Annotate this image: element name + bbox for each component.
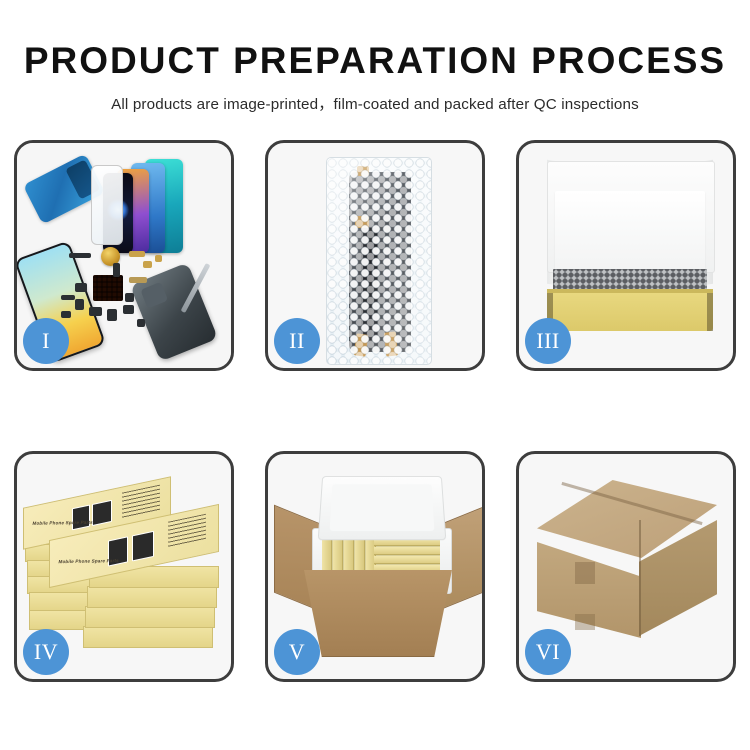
chip-grid-graphic bbox=[93, 275, 123, 301]
page-title: PRODUCT PREPARATION PROCESS bbox=[0, 0, 750, 81]
page-subtitle: All products are image-printed，film-coat… bbox=[0, 81, 750, 114]
carton-body-graphic bbox=[304, 570, 452, 657]
process-step-panel-5: V bbox=[265, 451, 485, 682]
product-preparation-infographic: PRODUCT PREPARATION PROCESS All products… bbox=[0, 0, 750, 750]
bubble-wrap-bag-graphic bbox=[326, 157, 432, 365]
step-badge-2: II bbox=[274, 318, 320, 364]
process-step-panel-3: III bbox=[516, 140, 736, 371]
step-badge-4: IV bbox=[23, 629, 69, 675]
yellow-box-front-graphic bbox=[547, 293, 713, 331]
step-badge-5: V bbox=[274, 629, 320, 675]
process-step-panel-4: Mobile Phone Spare Parts Mobile Phone Sp… bbox=[14, 451, 234, 682]
step-badge-1: I bbox=[23, 318, 69, 364]
foam-padding-graphic bbox=[555, 191, 705, 275]
process-step-panel-1: I bbox=[14, 140, 234, 371]
header: PRODUCT PREPARATION PROCESS All products… bbox=[0, 0, 750, 114]
process-step-panel-2: II bbox=[265, 140, 485, 371]
tempered-glass-graphic bbox=[91, 165, 123, 245]
process-step-grid: I II bbox=[14, 140, 736, 682]
styrofoam-lid-graphic bbox=[318, 476, 447, 540]
process-step-panel-6: VI bbox=[516, 451, 736, 682]
step-badge-3: III bbox=[525, 318, 571, 364]
step-badge-6: VI bbox=[525, 629, 571, 675]
